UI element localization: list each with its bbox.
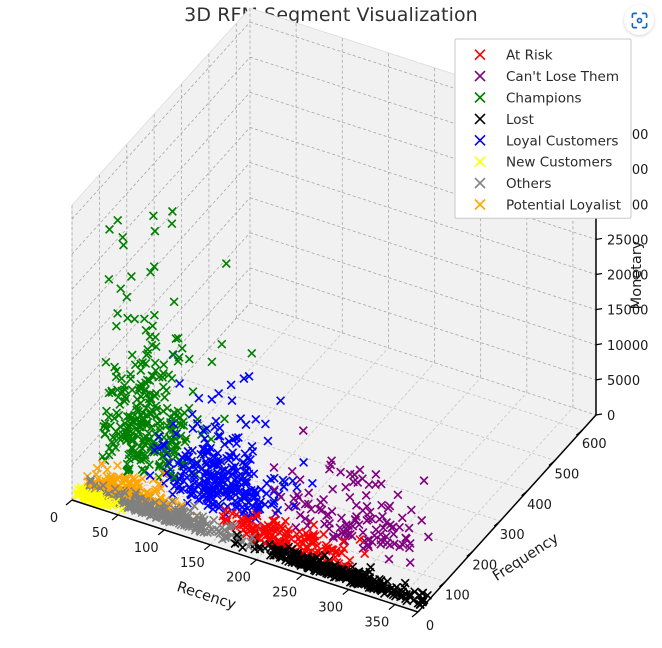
z-tick-mark [596,238,602,239]
x-tick-label: 0 [50,511,58,526]
z-tick-label: 0 [607,409,615,424]
x-tick-mark [389,605,395,610]
x-tick-label: 200 [226,571,251,586]
x-tick-mark [297,575,303,580]
x-tick-mark [343,590,349,595]
y-tick-label: 0 [426,619,434,634]
x-tick-mark [204,545,210,550]
z-tick-mark [596,379,602,380]
z-tick-mark [596,309,602,310]
legend-item-label[interactable]: Others [506,176,551,192]
x-tick-mark [251,560,257,565]
x-tick-label: 100 [134,541,159,556]
z-tick-label: 10000 [607,339,648,354]
x-tick-mark [112,515,118,520]
z-tick-mark [596,344,602,345]
legend-item-label[interactable]: At Risk [506,48,553,64]
x-tick-label: 50 [92,526,109,541]
x-tick-mark [66,500,72,505]
x-tick-label: 150 [180,556,205,571]
z-tick-mark [596,274,602,275]
z-axis-title: Monetary [629,240,645,309]
x-tick-mark [158,530,164,535]
y-tick-mark [412,612,418,617]
y-tick-label: 500 [554,468,579,483]
scatter3d-plot: 0501001502002503003500100200300400500600… [0,0,662,648]
y-tick-label: 400 [527,498,552,513]
y-tick-label: 100 [445,589,470,604]
y-tick-label: 600 [582,437,607,452]
x-tick-label: 350 [364,616,389,631]
z-tick-mark [596,414,602,415]
chart-page: 3D RFM Segment Visualization 05010015020… [0,0,662,648]
legend-item-label[interactable]: Can't Lose Them [506,69,619,85]
z-tick-label: 5000 [607,374,640,389]
y-tick-label: 300 [500,528,525,543]
legend-item-label[interactable]: New Customers [506,155,612,171]
legend-item-label[interactable]: Champions [506,91,582,107]
x-tick-label: 250 [272,586,297,601]
x-tick-label: 300 [318,601,343,616]
legend-item-label[interactable]: Potential Loyalist [506,198,621,214]
legend-item-label[interactable]: Lost [506,112,534,128]
legend[interactable]: At RiskCan't Lose ThemChampionsLostLoyal… [455,39,631,218]
legend-item-label[interactable]: Loyal Customers [506,133,618,149]
